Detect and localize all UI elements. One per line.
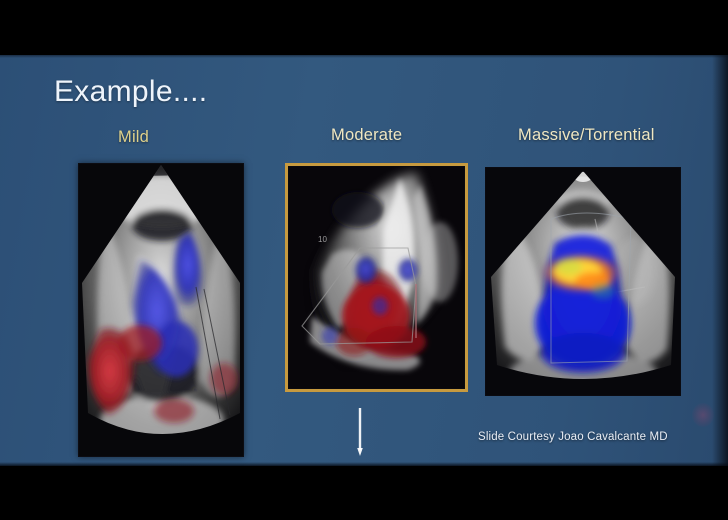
- panel-label-mild: Mild: [118, 128, 149, 147]
- echo-doppler-graphic-moderate: 10: [288, 166, 465, 389]
- video-frame-viewer: Example.... Mild: [0, 0, 728, 520]
- compression-artifact-smudge: [692, 403, 714, 427]
- echo-image-mild: [78, 163, 244, 457]
- down-arrow-icon: [357, 408, 363, 456]
- page-title: Example....: [54, 75, 207, 109]
- presentation-slide: Example.... Mild: [0, 55, 728, 466]
- echo-doppler-graphic-massive: [485, 167, 681, 396]
- echo-image-massive-torrential: [485, 167, 681, 396]
- slide-right-edge-shading: [712, 55, 728, 466]
- letterbox-bar-bottom: [0, 466, 728, 520]
- slide-top-seam: [0, 55, 728, 58]
- panel-label-massive-torrential: Massive/Torrential: [518, 126, 655, 145]
- echo-image-moderate: 10: [285, 163, 468, 392]
- echo-depth-marker: 10: [318, 235, 327, 244]
- echo-doppler-graphic-mild: [78, 163, 244, 457]
- panel-label-moderate: Moderate: [331, 126, 402, 145]
- letterbox-bar-top: [0, 0, 728, 55]
- slide-credit: Slide Courtesy Joao Cavalcante MD: [478, 431, 668, 443]
